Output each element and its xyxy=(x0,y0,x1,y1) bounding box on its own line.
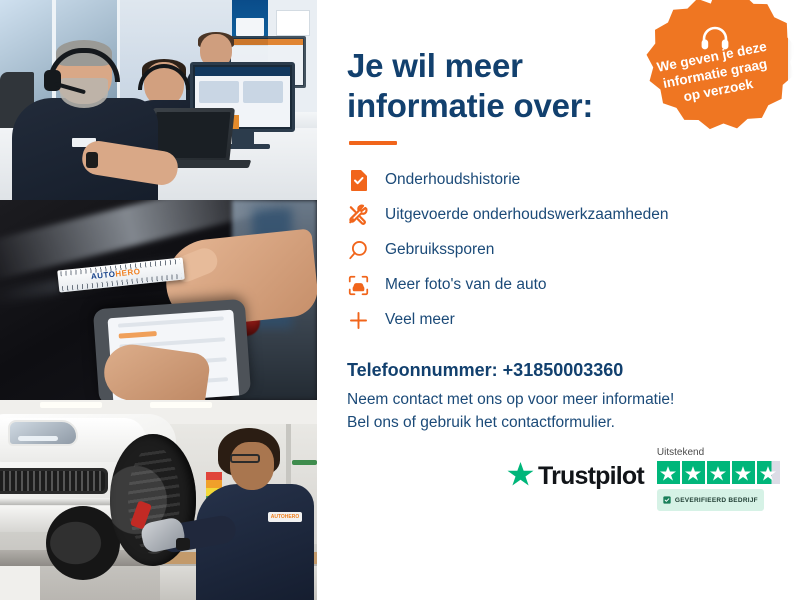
star-1-icon xyxy=(657,461,680,484)
trustpilot-logo: Trustpilot xyxy=(507,461,644,492)
ceiling-light xyxy=(40,402,102,408)
promo-banner: AUTOHERO xyxy=(0,0,800,600)
list-item: Meer foto's van de auto xyxy=(347,268,800,303)
ruler-logo-auto: AUTO xyxy=(91,270,116,282)
magnifier-icon xyxy=(347,239,369,261)
star-4-icon xyxy=(732,461,755,484)
feature-label: Onderhoudshistorie xyxy=(385,171,520,189)
uniform-logo: AUTOHERO xyxy=(268,512,302,522)
headline-line-1: Je wil meer xyxy=(347,47,523,84)
rear-wheel xyxy=(46,506,120,580)
ruler-logo-hero: HERO xyxy=(115,267,141,279)
verified-check-icon xyxy=(663,491,671,509)
title-divider xyxy=(349,141,397,145)
document-check-icon xyxy=(347,169,369,191)
feature-label: Veel meer xyxy=(385,311,455,329)
car-scan-icon xyxy=(347,274,369,296)
list-item: Veel meer xyxy=(347,303,800,338)
tools-icon xyxy=(347,204,369,226)
trustpilot-rating: Uitstekend GEVERIFIEERD BEDRIJF xyxy=(657,447,780,511)
wall-poster xyxy=(276,10,310,36)
inspection-photo: AUTOHERO xyxy=(0,200,317,400)
contact-line-2: Bel ons of gebruik het contactformulier. xyxy=(347,414,615,431)
verified-badge: GEVERIFIEERD BEDRIJF xyxy=(657,489,764,511)
ceiling-light-2 xyxy=(150,402,212,408)
contact-line-1: Neem contact met ons op voor meer inform… xyxy=(347,391,674,408)
phone-number[interactable]: Telefoonnummer: +31850003360 xyxy=(347,360,800,381)
rating-label: Uitstekend xyxy=(657,447,704,458)
feature-label: Gebruikssporen xyxy=(385,241,494,259)
list-item: Uitgevoerde onderhoudswerkzaamheden xyxy=(347,198,800,233)
contact-text: Neem contact met ons op voor meer inform… xyxy=(347,388,800,435)
star-2-icon xyxy=(682,461,705,484)
technician: AUTOHERO xyxy=(196,428,314,600)
feature-label: Meer foto's van de auto xyxy=(385,276,547,294)
trustpilot-widget[interactable]: Trustpilot Uitstekend GEVERIFIEERD BEDRI… xyxy=(507,447,780,511)
trustpilot-star-icon xyxy=(507,461,534,492)
feature-label: Uitgevoerde onderhoudswerkzaamheden xyxy=(385,206,669,224)
lift-column xyxy=(0,566,40,600)
workshop-photo: AUTOHERO xyxy=(0,400,317,600)
trustpilot-wordmark: Trustpilot xyxy=(538,462,644,491)
feature-list: Onderhoudshistorie Uitgevoerde onderhoud… xyxy=(347,163,800,338)
star-rating xyxy=(657,461,780,484)
list-item: Onderhoudshistorie xyxy=(347,163,800,198)
content-panel: Je wil meer informatie over: Onderhoudsh… xyxy=(317,0,800,600)
list-item: Gebruikssporen xyxy=(347,233,800,268)
photo-column: AUTOHERO xyxy=(0,0,317,600)
contact-block: Telefoonnummer: +31850003360 Neem contac… xyxy=(347,360,800,435)
call-center-photo xyxy=(0,0,317,200)
agent-with-headset xyxy=(8,42,158,200)
star-3-icon xyxy=(707,461,730,484)
star-5-icon xyxy=(757,461,780,484)
verified-label: GEVERIFIEERD BEDRIJF xyxy=(675,497,758,504)
headline-line-2: informatie over: xyxy=(347,87,593,124)
plus-icon xyxy=(347,309,369,331)
service-badge: We geven je deze informatie graag op ver… xyxy=(642,0,788,138)
